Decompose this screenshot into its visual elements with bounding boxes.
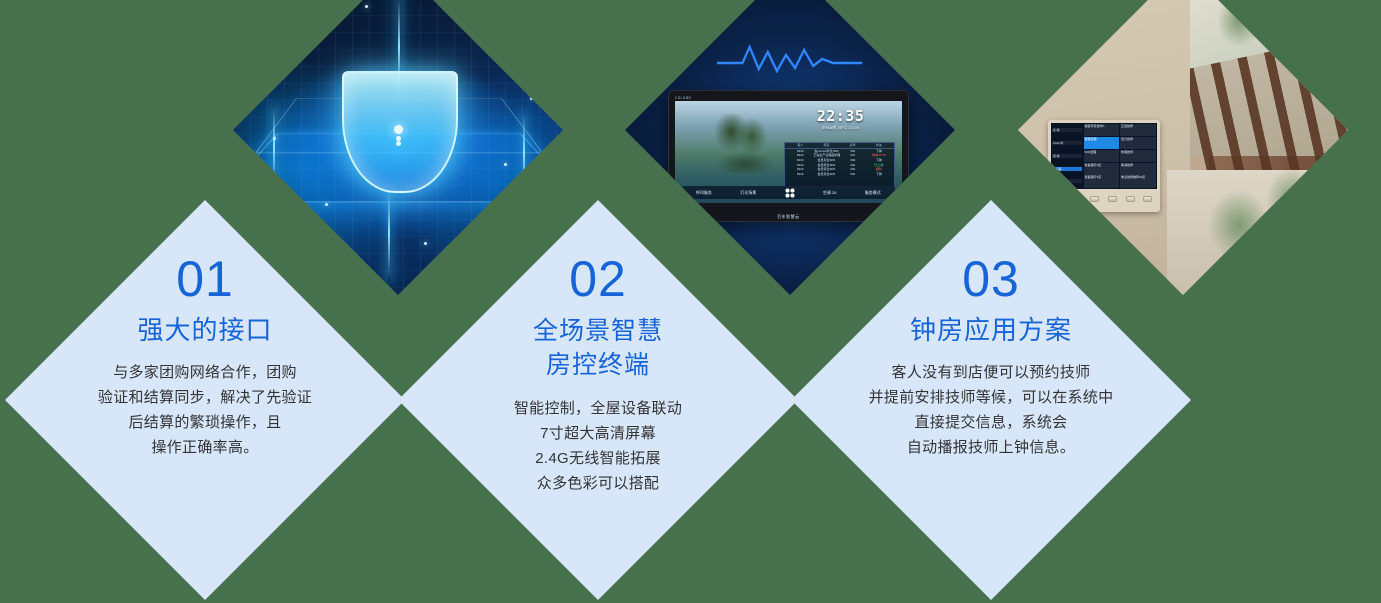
clock-meta: SPA6房 25°C 11/24 xyxy=(786,124,895,131)
panel-button[interactable] xyxy=(1073,196,1082,202)
card-description: 客人没有到店便可以预约技师 并提前安排技师等候，可以在系统中 直接提交信息，系统… xyxy=(826,360,1156,460)
panel-button[interactable] xyxy=(1143,196,1152,202)
panel-menu-item[interactable]: 点 钟 xyxy=(1052,128,1082,132)
btn-call-service[interactable]: 呼叫服务 xyxy=(696,190,712,196)
room-photo: 点 钟 CALL呼 围 钟 钟房区 选 钟 保健专家技师A 正班技师 保健经理 … xyxy=(1018,0,1348,295)
light-beam-icon xyxy=(273,104,275,190)
tablet-bottom-bar: 呼叫服务 灯光场景 空调 26 服务模式 xyxy=(682,186,895,199)
feature-image-1-digital-security-shield xyxy=(233,0,563,295)
panel-menu-item[interactable]: CALL呼 xyxy=(1052,141,1082,145)
card-description-line: 后结算的繁琐操作，且 xyxy=(40,410,370,435)
btn-light-scene[interactable]: 灯光场景 xyxy=(740,190,756,196)
card-description: 与多家团购网络合作，团购 验证和结算同步，解决了先验证 后结算的繁琐操作，且 操… xyxy=(40,360,370,460)
card-description-line: 直接提交信息，系统会 xyxy=(826,410,1156,435)
panel-screen: 点 钟 CALL呼 围 钟 钟房区 选 钟 保健专家技师A 正班技师 保健经理 … xyxy=(1051,123,1157,189)
panel-button[interactable] xyxy=(1108,196,1117,202)
tablet-screen: 22:35 SPA6房 25°C 11/24 客人 项目 房号 状态 8119 xyxy=(675,101,902,203)
panel-grid-item[interactable]: 保健专家技师A xyxy=(1084,124,1120,136)
tablet-footer-logo: 百年智慧云 xyxy=(669,214,908,220)
panel-grid-item[interactable]: 值日技师 xyxy=(1120,137,1156,149)
card-description-line: 并提前安排技师等候，可以在系统中 xyxy=(826,385,1156,410)
cell-item: 会员养生SPA xyxy=(813,172,839,177)
tablet-artwork: CSLDBD 22:35 SPA6房 25°C 11/24 客人 项目 房号 状… xyxy=(625,0,955,295)
col-guest: 客人 xyxy=(787,143,813,148)
card-title: 强大的接口 xyxy=(40,314,370,346)
shield-artwork xyxy=(233,0,563,295)
card-content: 03 钟房应用方案 客人没有到店便可以预约技师 并提前安排技师等候，可以在系统中… xyxy=(826,252,1156,460)
apps-grid-icon[interactable] xyxy=(785,188,795,198)
technician-table: 客人 项目 房号 状态 8119 会россий养生SPA 302 下钟 xyxy=(784,142,895,187)
col-room: 房号 xyxy=(840,143,866,148)
card-description-line: 与多家团购网络合作，团购 xyxy=(40,360,370,385)
feature-card-1: 01 强大的接口 与多家团购网络合作，团购 验证和结算同步，解决了先验证 后结算… xyxy=(5,200,405,600)
feature-diamonds-stage: CSLDBD 22:35 SPA6房 25°C 11/24 客人 项目 房号 状… xyxy=(0,0,1381,603)
card-description-line: 客人没有到店便可以预约技师 xyxy=(826,360,1156,385)
card-number: 01 xyxy=(40,252,370,306)
card-description-line: 7寸超大高清屏幕 xyxy=(433,421,763,446)
heartbeat-pulse-icon xyxy=(717,41,862,75)
panel-grid-item[interactable]: 客满技师 xyxy=(1120,163,1156,175)
panel-grid-item[interactable]: 休假技师 xyxy=(1120,150,1156,162)
feature-card-3: 03 钟房应用方案 客人没有到店便可以预约技师 并提前安排技师等候，可以在系统中… xyxy=(791,200,1191,600)
panel-grid-item-selected[interactable]: 保健经理 xyxy=(1084,137,1120,149)
wall-control-panel[interactable]: 点 钟 CALL呼 围 钟 钟房区 选 钟 保健专家技师A 正班技师 保健经理 … xyxy=(1048,120,1160,212)
panel-grid-item[interactable]: 香薰理疗3区 xyxy=(1084,175,1120,187)
card-description-line: 智能控制，全屋设备联动 xyxy=(433,396,763,421)
plant-icon xyxy=(1209,0,1268,57)
card-title: 钟房应用方案 xyxy=(826,314,1156,346)
card-number: 02 xyxy=(433,252,763,306)
plant-icon xyxy=(1256,156,1329,242)
card-title-line: 全场景智慧 xyxy=(433,314,763,348)
feature-image-2-wall-tablet-controller: CSLDBD 22:35 SPA6房 25°C 11/24 客人 项目 房号 状… xyxy=(625,0,955,295)
card-description-line: 操作正确率高。 xyxy=(40,435,370,460)
card-description-line: 验证和结算同步，解决了先验证 xyxy=(40,385,370,410)
btn-service-mode[interactable]: 服务模式 xyxy=(865,190,881,196)
card-content: 01 强大的接口 与多家团购网络合作，团购 验证和结算同步，解决了先验证 后结算… xyxy=(40,252,370,460)
feature-card-2: 02 全场景智慧 房控终端 智能控制，全屋设备联动 7寸超大高清屏幕 2.4G无… xyxy=(398,200,798,600)
card-number: 03 xyxy=(826,252,1156,306)
clock-time: 22:35 xyxy=(786,108,895,124)
card-description: 智能控制，全屋设备联动 7寸超大高清屏幕 2.4G无线智能拓展 众多色彩可以搭配 xyxy=(433,396,763,496)
light-beam-icon xyxy=(523,110,525,196)
panel-menu-item[interactable]: 围 钟 xyxy=(1052,154,1082,158)
cell-status: 下钟 xyxy=(866,172,892,177)
card-description-line: 自动播报技师上钟信息。 xyxy=(826,435,1156,460)
panel-button[interactable] xyxy=(1126,196,1135,202)
card-description-line: 众多色彩可以搭配 xyxy=(433,471,763,496)
panel-button[interactable] xyxy=(1055,196,1064,202)
tablet-device: CSLDBD 22:35 SPA6房 25°C 11/24 客人 项目 房号 状… xyxy=(668,90,909,222)
panel-menu-item-selected[interactable]: 钟房区 xyxy=(1052,167,1082,171)
col-status: 状态 xyxy=(866,143,892,148)
clock-widget: 22:35 SPA6房 25°C 11/24 xyxy=(786,108,895,131)
panel-side-menu: 点 钟 CALL呼 围 钟 钟房区 选 钟 xyxy=(1051,123,1083,189)
keyhole-icon xyxy=(394,125,403,134)
cell-room: 302 xyxy=(840,172,866,177)
card-title-line: 房控终端 xyxy=(433,348,763,382)
panel-grid-item[interactable]: 香薰理疗2区 xyxy=(1084,163,1120,175)
cell-guest: 8119 xyxy=(787,172,813,177)
light-beam-icon xyxy=(388,183,390,282)
panel-hardware-buttons xyxy=(1051,189,1157,210)
panel-grid-item[interactable]: 正班技师 xyxy=(1120,124,1156,136)
feature-image-3-room-wall-panel-photo: 点 钟 CALL呼 围 钟 钟房区 选 钟 保健专家技师A 正班技师 保健经理 … xyxy=(1018,0,1348,295)
btn-air-conditioner[interactable]: 空调 26 xyxy=(823,190,837,196)
col-item: 项目 xyxy=(813,143,839,148)
card-content: 02 全场景智慧 房控终端 智能控制，全屋设备联动 7寸超大高清屏幕 2.4G无… xyxy=(433,252,763,496)
panel-grid: 保健专家技师A 正班技师 保健经理 值日技师 SPA经理 休假技师 香薰理疗2区… xyxy=(1083,123,1157,189)
panel-menu-item[interactable]: 选 钟 xyxy=(1052,179,1082,183)
card-description-line: 2.4G无线智能拓展 xyxy=(433,446,763,471)
scenery-wallpaper xyxy=(711,114,779,173)
panel-grid-item[interactable]: SPA经理 xyxy=(1084,150,1120,162)
panel-grid-item[interactable]: 重点技师推荐22区 xyxy=(1120,175,1156,187)
table-row: 8119 会员养生SPA 302 下钟 xyxy=(785,172,894,177)
card-title: 全场景智慧 房控终端 xyxy=(433,314,763,382)
panel-button[interactable] xyxy=(1090,196,1099,202)
